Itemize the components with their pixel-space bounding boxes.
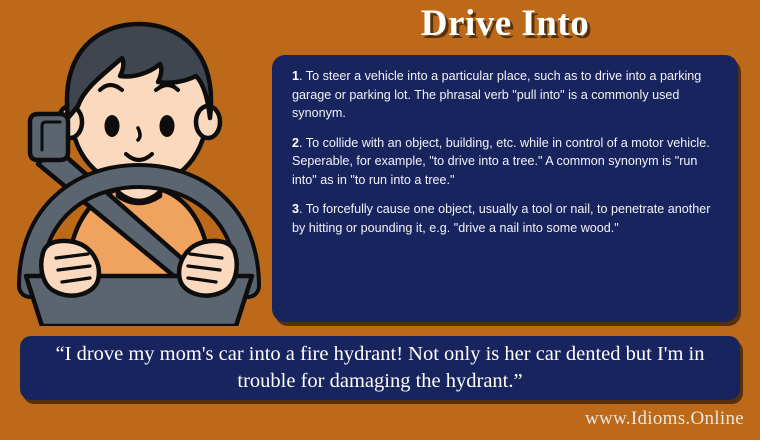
- definition-number-2: 2: [292, 136, 299, 150]
- definition-text-1: . To steer a vehicle into a particular p…: [292, 69, 701, 120]
- definition-item-3: 3. To forcefully cause one object, usual…: [292, 200, 718, 237]
- example-quote-text: “I drove my mom's car into a fire hydran…: [42, 341, 718, 395]
- definition-item-2: 2. To collide with an object, building, …: [292, 134, 718, 190]
- definition-text-2: . To collide with an object, building, e…: [292, 136, 710, 187]
- definition-text-3: . To forcefully cause one object, usuall…: [292, 202, 710, 235]
- definitions-panel: 1. To steer a vehicle into a particular …: [272, 55, 738, 322]
- definition-number-3: 3: [292, 202, 299, 216]
- idiom-card: Drive Into: [0, 0, 760, 440]
- boy-driving-svg: [8, 14, 270, 326]
- site-url: www.Idioms.Online: [585, 408, 744, 430]
- definition-number-1: 1: [292, 69, 299, 83]
- eye-left: [105, 115, 120, 137]
- example-quote-box: “I drove my mom's car into a fire hydran…: [20, 336, 740, 400]
- nose: [138, 128, 140, 140]
- eye-right: [160, 115, 175, 137]
- definition-item-1: 1. To steer a vehicle into a particular …: [292, 67, 718, 123]
- page-title: Drive Into: [270, 2, 740, 45]
- boy-driving-illustration: [8, 14, 270, 326]
